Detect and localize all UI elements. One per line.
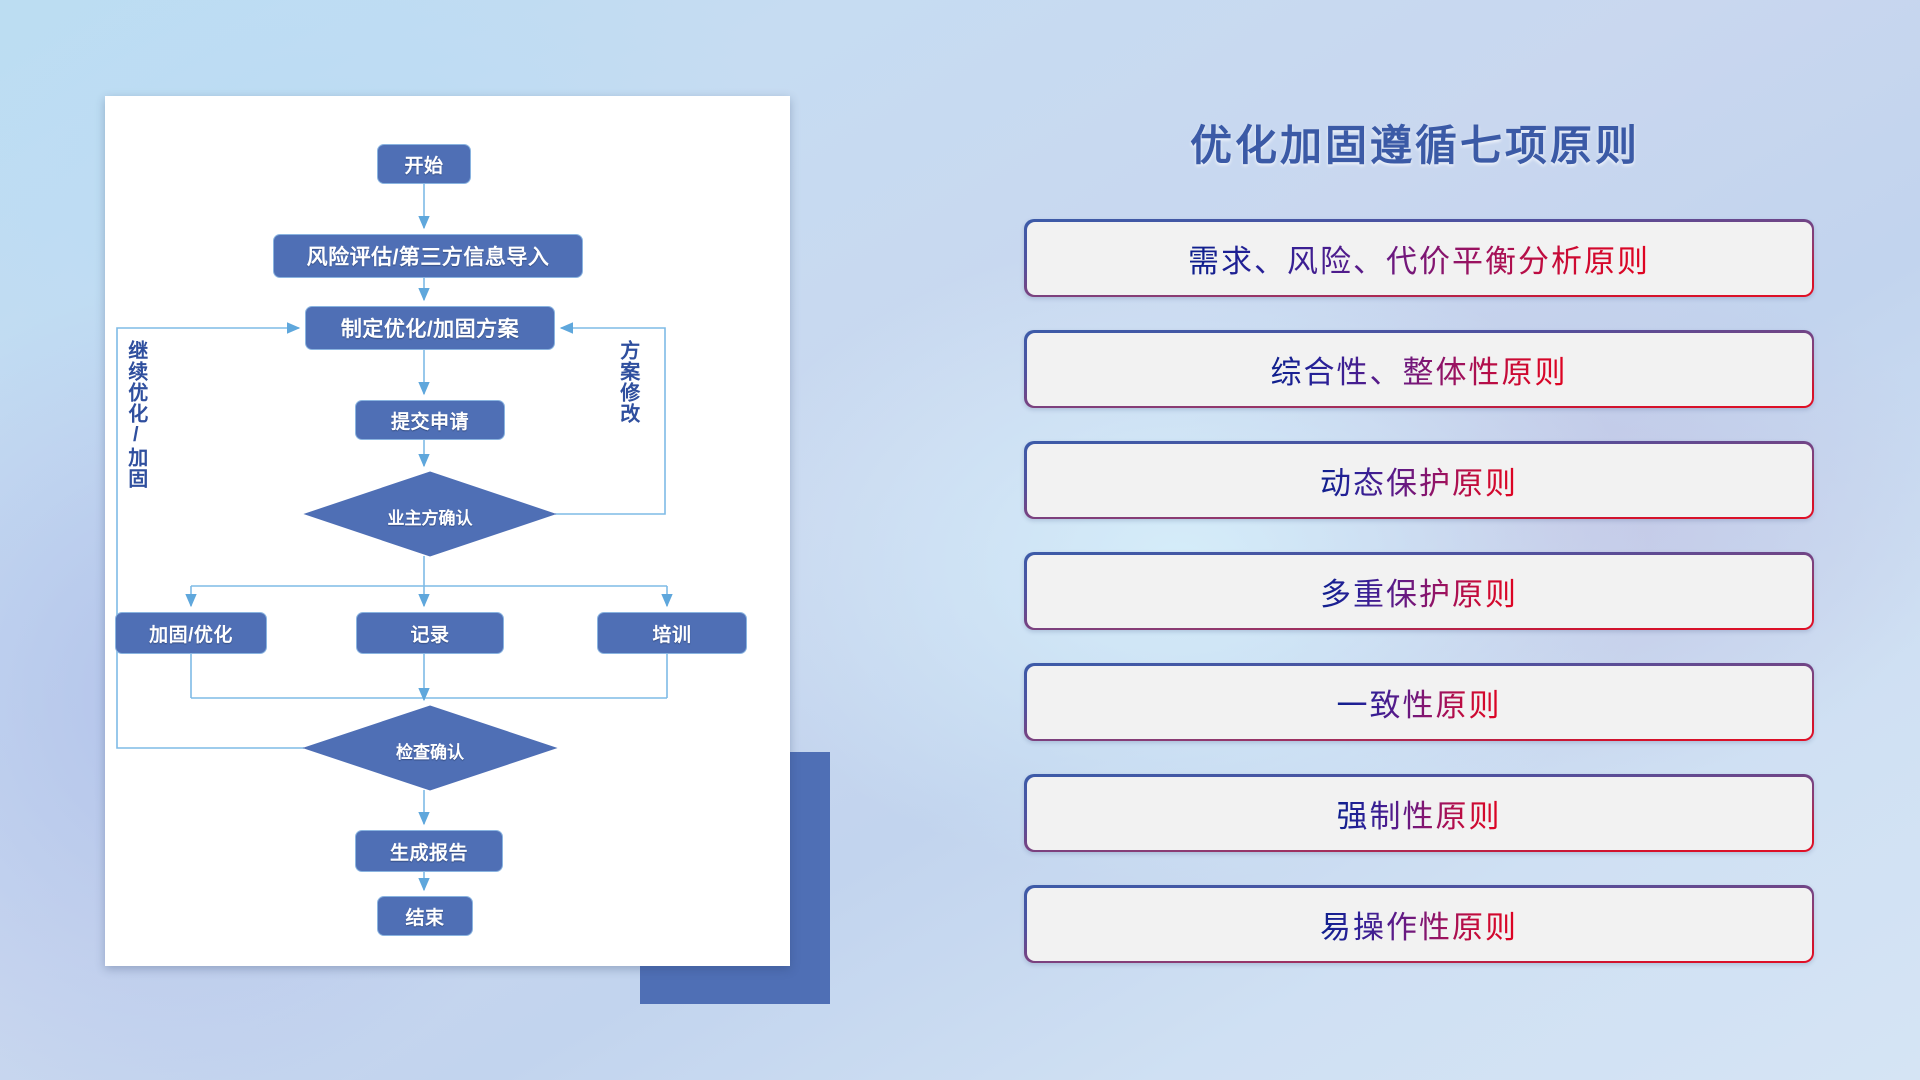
principles-panel: 优化加固遵循七项原则 需求、风险、代价平衡分析原则 综合性、整体性原则 动态保护…	[1020, 96, 1830, 996]
node-generate-report[interactable]: 生成报告	[355, 830, 503, 872]
principle-card-4[interactable]: 多重保护原则	[1024, 552, 1814, 630]
principle-label: 一致性原则	[1337, 680, 1502, 725]
principle-card-2[interactable]: 综合性、整体性原则	[1024, 330, 1814, 408]
principle-card-6[interactable]: 强制性原则	[1024, 774, 1814, 852]
node-check-confirm-label: 检查确认	[304, 738, 556, 763]
principle-label: 动态保护原则	[1320, 458, 1518, 503]
principle-card-inner: 动态保护原则	[1027, 444, 1812, 517]
principle-card-7[interactable]: 易操作性原则	[1024, 885, 1814, 963]
flowchart-card: 开始 风险评估/第三方信息导入 制定优化/加固方案 提交申请 业主方确认 加固/…	[105, 96, 790, 966]
node-make-plan[interactable]: 制定优化/加固方案	[305, 306, 555, 350]
principle-label: 易操作性原则	[1320, 902, 1518, 947]
principle-card-5[interactable]: 一致性原则	[1024, 663, 1814, 741]
node-training[interactable]: 培训	[597, 612, 747, 654]
node-submit-application[interactable]: 提交申请	[355, 400, 505, 440]
edge-label-continue-optimize: 继续优化/加固	[125, 340, 146, 489]
principle-card-inner: 一致性原则	[1027, 666, 1812, 739]
principle-label: 综合性、整体性原则	[1271, 347, 1568, 392]
principle-card-1[interactable]: 需求、风险、代价平衡分析原则	[1024, 219, 1814, 297]
principles-list: 需求、风险、代价平衡分析原则 综合性、整体性原则 动态保护原则 多重保护原则	[1024, 219, 1814, 996]
principle-card-inner: 易操作性原则	[1027, 888, 1812, 961]
principle-card-inner: 多重保护原则	[1027, 555, 1812, 628]
node-risk-assessment[interactable]: 风险评估/第三方信息导入	[273, 234, 583, 278]
page-title: 优化加固遵循七项原则	[1020, 112, 1810, 173]
principle-label: 强制性原则	[1337, 791, 1502, 836]
principle-label: 需求、风险、代价平衡分析原则	[1188, 236, 1650, 281]
node-reinforce-optimize[interactable]: 加固/优化	[115, 612, 267, 654]
node-end[interactable]: 结束	[377, 896, 473, 936]
slide-canvas: 开始 风险评估/第三方信息导入 制定优化/加固方案 提交申请 业主方确认 加固/…	[0, 0, 1920, 1080]
principle-card-inner: 需求、风险、代价平衡分析原则	[1027, 222, 1812, 295]
node-record[interactable]: 记录	[356, 612, 504, 654]
principle-card-inner: 综合性、整体性原则	[1027, 333, 1812, 406]
edge-label-plan-revision: 方案修改	[617, 340, 638, 424]
principle-card-inner: 强制性原则	[1027, 777, 1812, 850]
principle-label: 多重保护原则	[1320, 569, 1518, 614]
node-owner-confirm-label: 业主方确认	[305, 504, 555, 529]
principle-card-3[interactable]: 动态保护原则	[1024, 441, 1814, 519]
node-start[interactable]: 开始	[377, 144, 471, 184]
